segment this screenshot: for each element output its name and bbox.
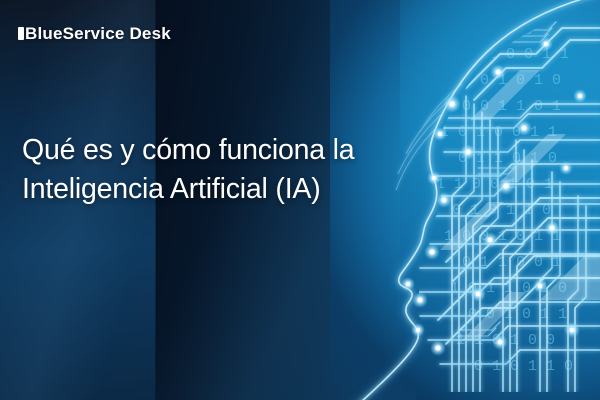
banner-title: Qué es y cómo funciona la Inteligencia A… — [22, 131, 417, 209]
banner-title-line-1: Qué es y cómo funciona la — [22, 131, 417, 170]
brand-logo-text: BlueService Desk — [25, 24, 171, 43]
banner-title-line-2: Inteligencia Artificial (IA) — [22, 170, 417, 209]
article-header-banner: 1 0 1 1 0 0 1 0 0 1 1 1 1 0 1 0 1 0 0 0 … — [0, 0, 600, 400]
svg-text:0 0 1 1 0 1: 0 0 1 1 0 1 — [462, 98, 561, 115]
brand-logo[interactable]: BlueService Desk — [18, 24, 171, 44]
brand-logo-mark — [18, 27, 24, 40]
